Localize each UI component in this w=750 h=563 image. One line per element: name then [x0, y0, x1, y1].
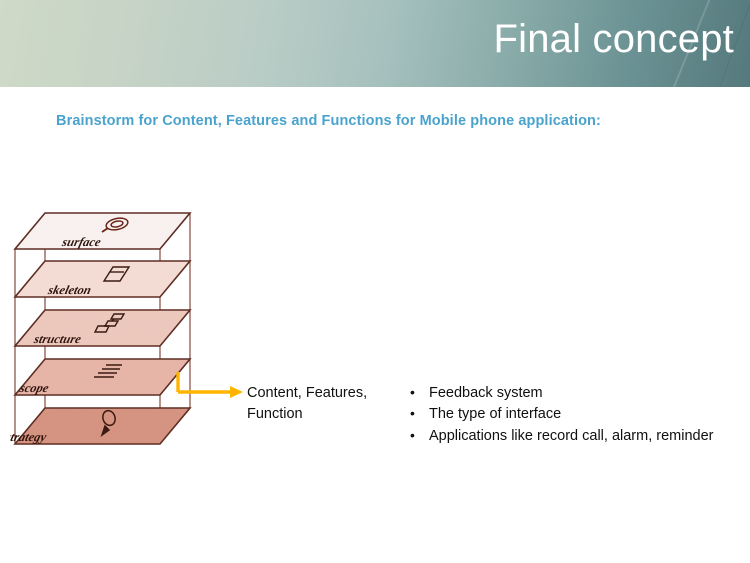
diagram-layer-label: strategy	[10, 430, 48, 444]
callout-label: Content, Features, Function	[247, 383, 367, 425]
list-item: Applications like record call, alarm, re…	[406, 426, 746, 447]
slide-header: Final concept	[0, 0, 750, 87]
list-item: The type of interface	[406, 404, 746, 425]
list-item: Feedback system	[406, 383, 746, 404]
diagram-layer-scope: scope	[15, 359, 190, 395]
diagram-layer-structure: structure	[15, 310, 190, 346]
callout-label-line1: Content, Features,	[247, 383, 367, 404]
slide-subtitle: Brainstorm for Content, Features and Fun…	[56, 113, 601, 129]
diagram-layer-label: scope	[17, 381, 50, 395]
arrow-head-icon	[230, 386, 243, 398]
diagram-layer-label: skeleton	[46, 283, 93, 297]
diagram-layer-surface: surface	[15, 213, 190, 249]
diagram-layer-strategy: strategy	[10, 408, 190, 444]
callout-label-line2: Function	[247, 404, 367, 425]
callout-arrow	[168, 368, 248, 413]
page-title: Final concept	[493, 19, 734, 59]
five-planes-diagram: strategy scope stru	[10, 208, 210, 473]
diagram-layer-skeleton: skeleton	[15, 261, 190, 297]
diagram-layer-label: surface	[60, 235, 103, 249]
diagram-layer-label: structure	[32, 332, 83, 346]
feature-bullet-list: Feedback system The type of interface Ap…	[406, 383, 746, 447]
